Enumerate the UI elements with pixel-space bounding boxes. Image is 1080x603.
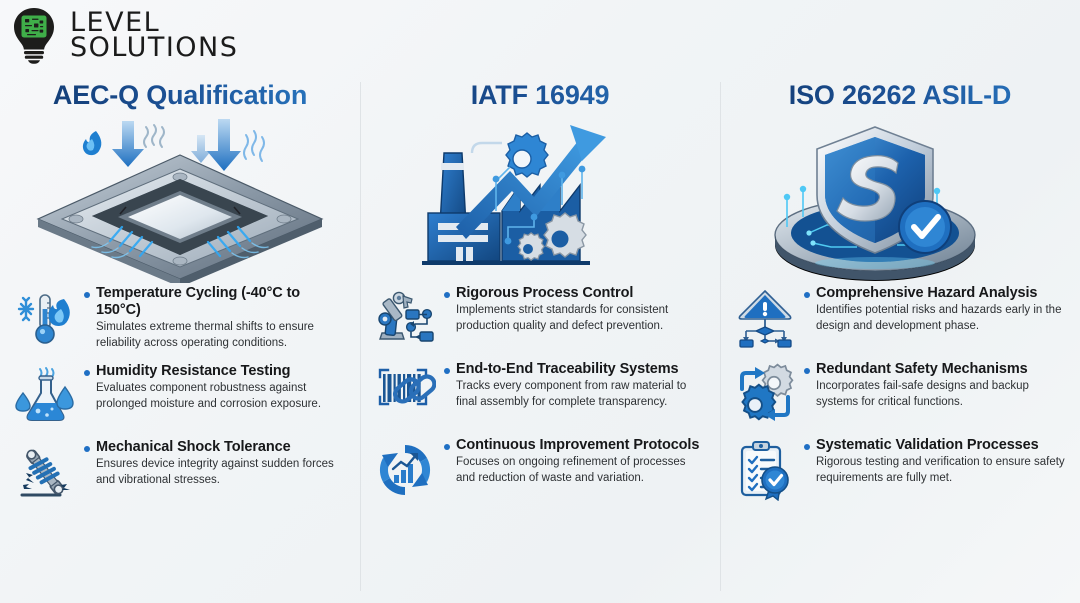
shock-absorber-spring-icon — [14, 441, 76, 503]
feature-item: Temperature Cycling (-40°C to 150°C) Sim… — [14, 285, 346, 351]
bullet-icon — [444, 292, 450, 298]
feature-title: Humidity Resistance Testing — [96, 363, 290, 380]
feature-description: Tracks every component from raw material… — [456, 379, 706, 410]
feature-item: Humidity Resistance Testing Evaluates co… — [14, 363, 346, 427]
feature-item: Continuous Improvement Protocols Focuses… — [374, 437, 706, 501]
feature-description: Incorporates fail-safe designs and backu… — [816, 379, 1066, 410]
feature-heading-row: Rigorous Process Control — [444, 285, 706, 302]
standards-columns: AEC-Q Qualification — [0, 72, 1080, 603]
feature-description: Rigorous testing and verification to ens… — [816, 455, 1066, 486]
feature-item: Comprehensive Hazard Analysis Identifies… — [734, 285, 1066, 349]
bullet-icon — [444, 444, 450, 450]
feature-description: Ensures device integrity against sudden … — [96, 457, 346, 488]
brand-wordmark: LEVEL SOLUTIONS — [70, 9, 238, 61]
feature-description: Implements strict standards for consiste… — [456, 303, 706, 334]
circular-arrows-bar-chart-icon — [374, 439, 436, 501]
bullet-icon — [804, 444, 810, 450]
barcode-chain-link-icon — [374, 363, 436, 425]
robot-arm-flowchart-icon — [374, 287, 436, 349]
flask-water-droplets-icon — [14, 365, 76, 427]
feature-text: Rigorous Process Control Implements stri… — [444, 285, 706, 334]
column-iso-26262: ISO 26262 ASIL-D — [720, 72, 1080, 603]
feature-heading-row: Continuous Improvement Protocols — [444, 437, 706, 454]
brand-logo: LEVEL SOLUTIONS — [8, 6, 238, 64]
feature-text: Humidity Resistance Testing Evaluates co… — [84, 363, 346, 412]
feature-text: Continuous Improvement Protocols Focuses… — [444, 437, 706, 486]
feature-list-iso: Comprehensive Hazard Analysis Identifies… — [734, 285, 1066, 501]
feature-title: Comprehensive Hazard Analysis — [816, 285, 1037, 302]
feature-title: End-to-End Traceability Systems — [456, 361, 679, 378]
feature-title: Redundant Safety Mechanisms — [816, 361, 1028, 378]
feature-heading-row: Temperature Cycling (-40°C to 150°C) — [84, 285, 346, 319]
feature-heading-row: End-to-End Traceability Systems — [444, 361, 706, 378]
microchip-thermal-stress-illustration — [14, 115, 346, 283]
dual-gears-arrows-icon — [734, 363, 796, 425]
feature-heading-row: Redundant Safety Mechanisms — [804, 361, 1066, 378]
feature-text: Temperature Cycling (-40°C to 150°C) Sim… — [84, 285, 346, 351]
feature-heading-row: Humidity Resistance Testing — [84, 363, 346, 380]
bullet-icon — [804, 292, 810, 298]
security-shield-circuit-badge-illustration — [734, 115, 1066, 283]
column-title-aec-q: AEC-Q Qualification — [14, 80, 346, 111]
feature-list-iatf: Rigorous Process Control Implements stri… — [374, 285, 706, 501]
lightbulb-circuit-icon — [8, 6, 60, 64]
feature-description: Simulates extreme thermal shifts to ensu… — [96, 320, 346, 351]
bullet-icon — [444, 368, 450, 374]
warning-triangle-flowchart-icon — [734, 287, 796, 349]
brand-line-2: SOLUTIONS — [70, 36, 238, 61]
infographic-page: LEVEL SOLUTIONS AEC-Q Qualification — [0, 0, 1080, 603]
bullet-icon — [84, 370, 90, 376]
feature-item: End-to-End Traceability Systems Tracks e… — [374, 361, 706, 425]
feature-description: Evaluates component robustness against p… — [96, 381, 346, 412]
column-aec-q: AEC-Q Qualification — [0, 72, 360, 603]
feature-text: Comprehensive Hazard Analysis Identifies… — [804, 285, 1066, 334]
feature-title: Systematic Validation Processes — [816, 437, 1039, 454]
feature-item: Redundant Safety Mechanisms Incorporates… — [734, 361, 1066, 425]
feature-text: Systematic Validation Processes Rigorous… — [804, 437, 1066, 486]
bullet-icon — [84, 446, 90, 452]
thermometer-snowflake-flame-icon — [14, 287, 76, 349]
feature-item: Systematic Validation Processes Rigorous… — [734, 437, 1066, 501]
clipboard-checklist-award-icon — [734, 439, 796, 501]
feature-heading-row: Systematic Validation Processes — [804, 437, 1066, 454]
feature-heading-row: Comprehensive Hazard Analysis — [804, 285, 1066, 302]
column-iatf-16949: IATF 16949 — [360, 72, 720, 603]
feature-text: Mechanical Shock Tolerance Ensures devic… — [84, 439, 346, 488]
feature-heading-row: Mechanical Shock Tolerance — [84, 439, 346, 456]
feature-text: End-to-End Traceability Systems Tracks e… — [444, 361, 706, 410]
column-title-iso-26262: ISO 26262 ASIL-D — [734, 80, 1066, 111]
bullet-icon — [804, 368, 810, 374]
feature-title: Mechanical Shock Tolerance — [96, 439, 291, 456]
feature-text: Redundant Safety Mechanisms Incorporates… — [804, 361, 1066, 410]
feature-item: Rigorous Process Control Implements stri… — [374, 285, 706, 349]
feature-title: Temperature Cycling (-40°C to 150°C) — [96, 285, 346, 319]
factory-gears-growth-arrow-illustration — [374, 115, 706, 283]
column-title-iatf-16949: IATF 16949 — [374, 80, 706, 111]
feature-description: Focuses on ongoing refinement of process… — [456, 455, 706, 486]
feature-description: Identifies potential risks and hazards e… — [816, 303, 1066, 334]
feature-item: Mechanical Shock Tolerance Ensures devic… — [14, 439, 346, 503]
feature-list-aec-q: Temperature Cycling (-40°C to 150°C) Sim… — [14, 285, 346, 503]
feature-title: Rigorous Process Control — [456, 285, 633, 302]
bullet-icon — [84, 292, 90, 298]
feature-title: Continuous Improvement Protocols — [456, 437, 699, 454]
